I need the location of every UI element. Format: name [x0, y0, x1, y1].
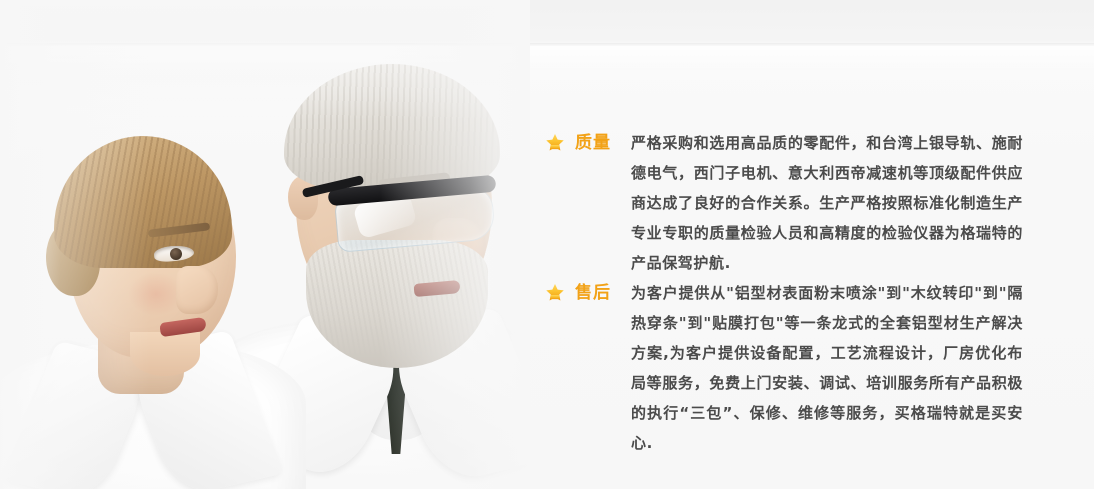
feature-title-quality: 质量: [575, 128, 631, 158]
woman-iris: [170, 248, 182, 260]
woman-hair: [54, 136, 232, 268]
star-icon: [544, 132, 566, 154]
feature-list: 质量 严格采购和选用高品质的零配件，和台湾上银导轨、施耐德电气，西门子电机、意大…: [540, 0, 1094, 489]
female-researcher: [10, 124, 310, 489]
feature-item-after-sales: 售后 为客户提供从"铝型材表面粉末喷涂"到"木纹转印"到"隔热穿条"到"贴膜打包…: [544, 278, 1023, 458]
feature-title-after-sales: 售后: [575, 278, 631, 308]
star-icon: [544, 282, 566, 304]
feature-body-quality: 严格采购和选用高品质的零配件，和台湾上银导轨、施耐德电气，西门子电机、意大利西帝…: [631, 128, 1023, 278]
feature-body-after-sales: 为客户提供从"铝型材表面粉末喷涂"到"木纹转印"到"隔热穿条"到"贴膜打包"等一…: [631, 278, 1023, 458]
photo-stage: [0, 0, 530, 489]
man-hair: [284, 64, 500, 192]
promo-banner: 质量 严格采购和选用高品质的零配件，和台湾上银导轨、施耐德电气，西门子电机、意大…: [0, 0, 1094, 489]
woman-chin: [130, 332, 200, 376]
researchers-photo: [0, 0, 530, 489]
feature-item-quality: 质量 严格采购和选用高品质的零配件，和台湾上银导轨、施耐德电气，西门子电机、意大…: [544, 128, 1023, 278]
woman-nose: [176, 266, 218, 314]
